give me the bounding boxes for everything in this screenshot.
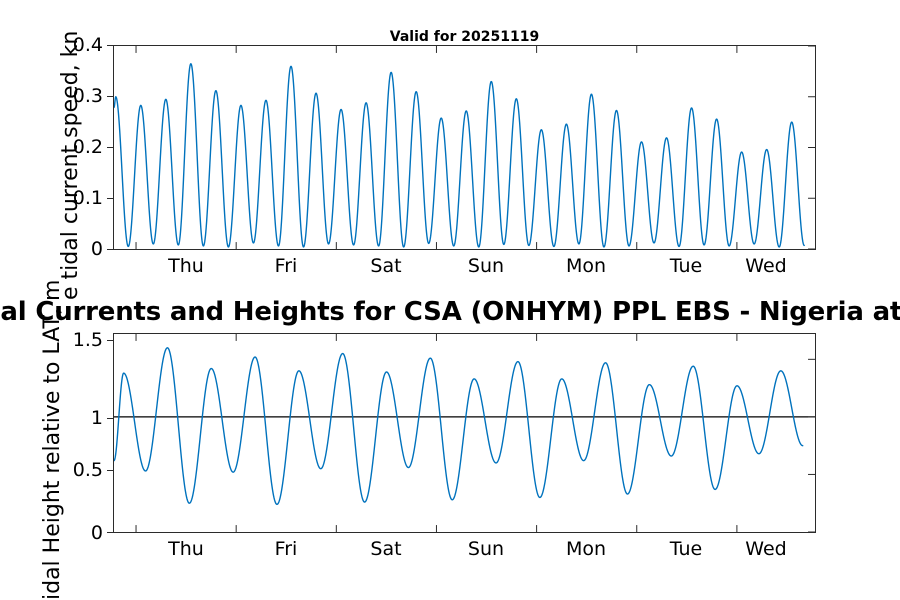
xtick-label-sat: Sat <box>336 257 436 276</box>
tidal-figure: Valid for 20251119 e tidal current speed… <box>0 0 900 600</box>
xtick-label-h-fri: Fri <box>236 540 336 559</box>
xtick-label-thu: Thu <box>136 257 236 276</box>
xtick-label-sun: Sun <box>436 257 536 276</box>
xtick-label-h-sat: Sat <box>336 540 436 559</box>
ytick-label-h-0: 1.5 <box>40 331 103 350</box>
xtick-label-h-wed: Wed <box>716 540 816 559</box>
panel-title-valid-for: Valid for 20251119 <box>113 29 816 45</box>
plot-area-current-speed <box>113 45 816 250</box>
ytick-label-2: 0.2 <box>40 138 103 157</box>
xtick-label-wed: Wed <box>716 257 816 276</box>
ytick-label-h-2: 0.5 <box>40 461 103 480</box>
ytick-mark-h-3 <box>107 532 113 533</box>
ytick-mark-4 <box>107 249 113 250</box>
xtick-label-fri: Fri <box>236 257 336 276</box>
xtick-label-h-thu: Thu <box>136 540 236 559</box>
y-axis-title-current-speed: e tidal current speed, kn <box>58 31 83 300</box>
ytick-label-3: 0.1 <box>40 189 103 208</box>
xtick-label-h-mon: Mon <box>536 540 636 559</box>
ytick-label-1: 0.3 <box>40 87 103 106</box>
current-speed-line-series <box>114 46 815 249</box>
xtick-label-h-sun: Sun <box>436 540 536 559</box>
xtick-label-mon: Mon <box>536 257 636 276</box>
ytick-mark-0 <box>107 45 113 46</box>
ytick-mark-3 <box>107 198 113 199</box>
ytick-label-4: 0 <box>40 240 103 259</box>
y-axis-title-tidal-height: idal Height relative to LAT, m <box>40 280 65 600</box>
plot-area-tidal-height <box>113 333 816 533</box>
ytick-mark-h-1 <box>107 418 113 419</box>
ytick-label-0: 0.4 <box>40 36 103 55</box>
ytick-mark-h-0 <box>107 340 113 341</box>
ytick-label-h-1: 1 <box>40 409 103 428</box>
ytick-mark-1 <box>107 96 113 97</box>
ytick-label-h-3: 0 <box>40 524 103 543</box>
ytick-mark-2 <box>107 147 113 148</box>
tidal-height-line-series <box>114 334 815 532</box>
ytick-mark-h-2 <box>107 470 113 471</box>
figure-suptitle: dal Currents and Heights for CSA (ONHYM)… <box>0 297 900 327</box>
